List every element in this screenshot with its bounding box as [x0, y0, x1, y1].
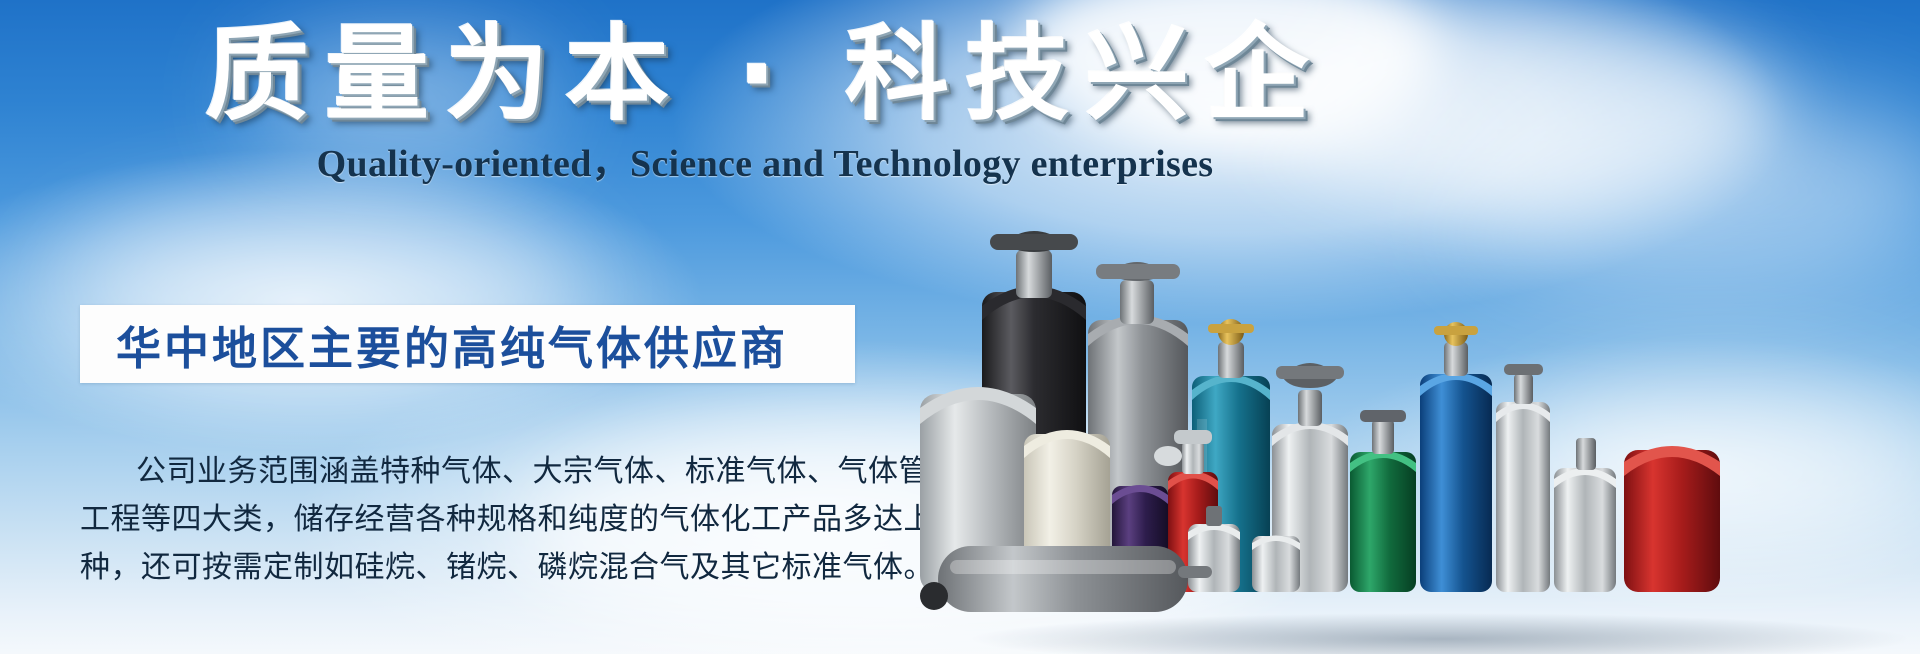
- cylinder-navy-tall: [1420, 322, 1492, 592]
- gas-cylinder-group-image: [920, 224, 1920, 654]
- paragraph-line: 工程等四大类，储存经营各种规格和纯度的气体化工产品多达上百: [80, 496, 870, 544]
- cylinder-red-large: [1624, 446, 1720, 592]
- highlight-box-text: 华中地区主要的高纯气体供应商: [116, 312, 788, 377]
- paragraph-line: 公司业务范围涵盖特种气体、大宗气体、标准气体、气体管道: [80, 448, 870, 496]
- headline-block: 质量为本 · 科技兴企 Quality-oriented，Science and…: [0, 18, 1530, 187]
- headline-chinese: 质量为本 · 科技兴企: [0, 18, 1530, 130]
- headline-english: Quality-oriented，Science and Technology …: [0, 132, 1530, 187]
- highlight-box: 华中地区主要的高纯气体供应商: [80, 305, 855, 383]
- cylinder-aluminium-small-b: [1252, 536, 1300, 593]
- description-paragraph: 公司业务范围涵盖特种气体、大宗气体、标准气体、气体管道 工程等四大类，储存经营各…: [80, 448, 870, 592]
- paragraph-line: 种，还可按需定制如硅烷、锗烷、磷烷混合气及其它标准气体。: [80, 544, 870, 592]
- cylinder-aluminium-mid: [1554, 438, 1616, 592]
- cylinder-aluminium-slim: [1496, 364, 1550, 592]
- cylinder-horizontal: [920, 546, 1212, 612]
- promotional-banner: 质量为本 · 科技兴企 Quality-oriented，Science and…: [0, 0, 1920, 654]
- cylinder-green: [1350, 410, 1416, 592]
